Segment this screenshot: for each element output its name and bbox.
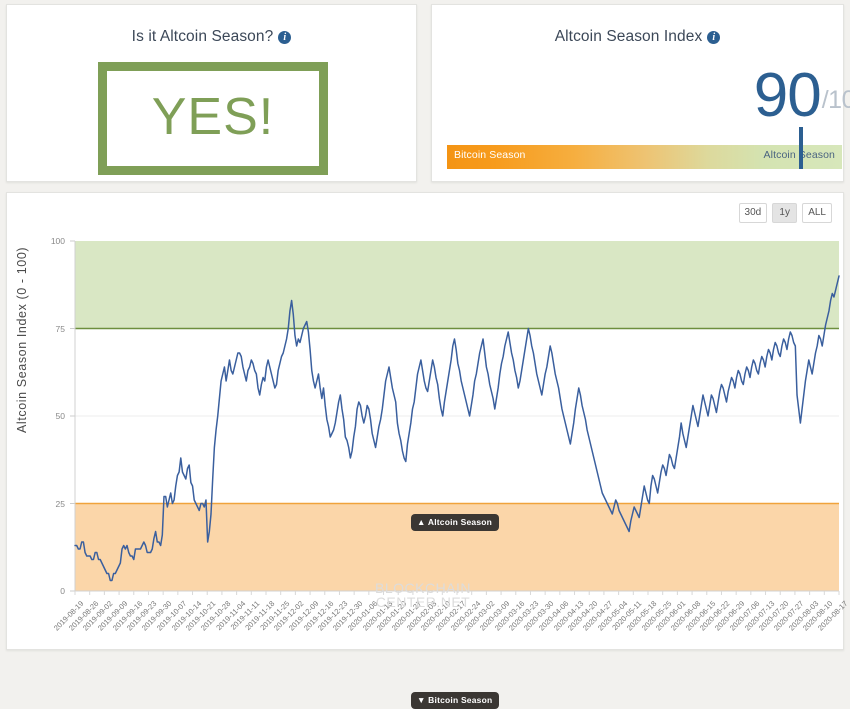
altcoin-season-index-card: Altcoin Season Indexi 90 /10 Bitcoin Sea… [431, 4, 844, 182]
gauge-marker [799, 127, 803, 169]
yes-card-title: Is it Altcoin Season?i [7, 5, 416, 46]
info-icon[interactable]: i [278, 31, 291, 44]
bitcoin-season-badge: ▼ Bitcoin Season [411, 692, 499, 709]
summary-cards-row: Is it Altcoin Season?i YES! Altcoin Seas… [6, 4, 844, 182]
answer-text: YES! [152, 91, 275, 143]
chart-panel: 30d 1y ALL Altcoin Season Index (0 - 100… [6, 192, 844, 650]
gauge-bitcoin-label: Bitcoin Season [454, 149, 525, 161]
info-icon[interactable]: i [707, 31, 720, 44]
yes-card-title-text: Is it Altcoin Season? [132, 28, 274, 45]
season-gauge: Bitcoin Season Altcoin Season [447, 145, 842, 169]
index-card-title-text: Altcoin Season Index [555, 28, 703, 45]
index-value-group: 90 /10 [754, 67, 850, 124]
index-max-label: /10 [822, 86, 850, 115]
altcoin-season-answer-card: Is it Altcoin Season?i YES! [6, 4, 417, 182]
answer-box: YES! [98, 62, 328, 175]
altcoin-season-index-line-chart [7, 193, 845, 651]
altcoin-season-badge: ▲ Altcoin Season [411, 514, 499, 531]
page-root: Is it Altcoin Season?i YES! Altcoin Seas… [0, 0, 850, 655]
index-value: 90 [754, 67, 821, 124]
index-card-title: Altcoin Season Indexi [432, 5, 843, 46]
